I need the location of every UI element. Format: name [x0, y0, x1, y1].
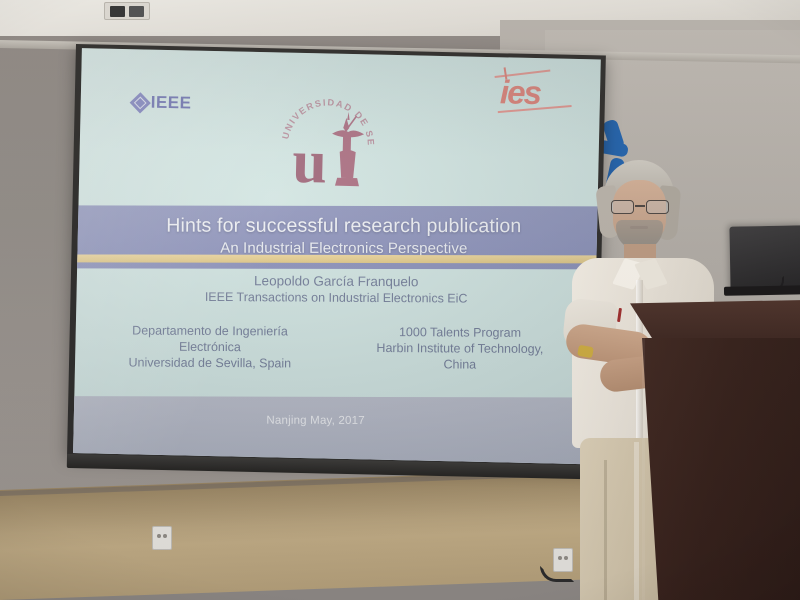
- screen-frame: IEEE UNIVERSIDAD DE SEVILLA u: [67, 44, 606, 467]
- affiliation-line: 1000 Talents Program: [356, 324, 564, 341]
- affiliation-left: Departamento de Ingeniería Electrónica U…: [106, 322, 314, 371]
- podium-body: [642, 338, 800, 600]
- laptop-base: [724, 285, 800, 295]
- affiliation-line: China: [356, 356, 564, 373]
- ies-logo: ies: [492, 69, 579, 119]
- projection-screen: IEEE UNIVERSIDAD DE SEVILLA u: [67, 44, 606, 467]
- ies-wordmark: ies: [500, 73, 541, 112]
- slide-footer-text: Nanjing May, 2017: [73, 414, 576, 427]
- slide-affiliations: Departamento de Ingeniería Electrónica U…: [75, 322, 594, 373]
- affiliation-line: Universidad de Sevilla, Spain: [106, 354, 314, 371]
- presentation-slide: IEEE UNIVERSIDAD DE SEVILLA u: [73, 48, 601, 464]
- affiliation-line: Electrónica: [106, 338, 314, 355]
- author-role: IEEE Transactions on Industrial Electron…: [77, 289, 596, 306]
- ieee-diamond-icon: [130, 92, 151, 113]
- photo-scene: IEEE UNIVERSIDAD DE SEVILLA u: [0, 0, 800, 600]
- wristwatch: [577, 345, 594, 358]
- glasses-lens: [646, 200, 669, 214]
- ceiling-light-icon: [104, 2, 150, 20]
- ieee-logo: IEEE: [133, 92, 192, 113]
- affiliation-line: Harbin Institute of Technology,: [356, 340, 564, 357]
- wall-outlet: [152, 526, 172, 550]
- ieee-wordmark: IEEE: [151, 93, 192, 114]
- author-name: Leopoldo García Franquelo: [77, 272, 596, 290]
- podium: [630, 300, 800, 600]
- presenter-glasses: [610, 200, 670, 214]
- affiliation-line: Departamento de Ingeniería: [106, 322, 314, 339]
- glasses-lens: [611, 200, 634, 214]
- slide-gold-divider: [73, 254, 601, 263]
- glasses-bridge: [635, 205, 645, 207]
- podium-edge: [642, 338, 645, 600]
- seal-figure-icon: [325, 111, 371, 188]
- universidad-de-sevilla-logo: UNIVERSIDAD DE SEVILLA u: [275, 92, 381, 198]
- slide-title: Hints for successful research publicatio…: [73, 214, 601, 238]
- slide-author-block: Leopoldo García Franquelo IEEE Transacti…: [77, 272, 596, 306]
- trouser-seam: [604, 460, 607, 600]
- slide-footer-band: Nanjing May, 2017: [73, 396, 601, 464]
- seal-letter-u: u: [292, 137, 328, 189]
- podium-top-surface: [630, 300, 800, 342]
- affiliation-right: 1000 Talents Program Harbin Institute of…: [356, 324, 564, 373]
